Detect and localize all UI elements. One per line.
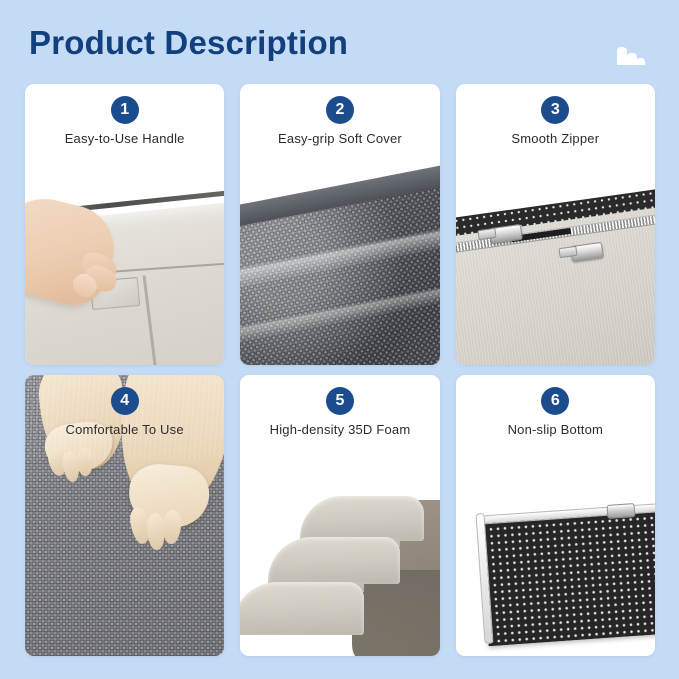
card-5-label: High-density 35D Foam <box>240 422 439 437</box>
card-1-head: 1 Easy-to-Use Handle <box>25 84 224 160</box>
card-2-badge: 2 <box>326 96 354 124</box>
card-6-label: Non-slip Bottom <box>456 422 655 437</box>
card-5-head: 5 High-density 35D Foam <box>240 375 439 451</box>
card-3-badge: 3 <box>541 96 569 124</box>
card-3-label: Smooth Zipper <box>456 131 655 146</box>
card-3-head: 3 Smooth Zipper <box>456 84 655 160</box>
card-2-photo <box>240 160 439 365</box>
card-1-photo <box>25 160 224 365</box>
card-4-photo <box>25 375 224 656</box>
card-2-head: 2 Easy-grip Soft Cover <box>240 84 439 160</box>
feature-card-5[interactable]: 5 High-density 35D Foam <box>240 375 439 656</box>
feature-card-6[interactable]: 6 Non-slip Bottom <box>456 375 655 656</box>
card-3-photo <box>456 160 655 365</box>
page-title: Product Description <box>29 24 348 62</box>
feature-card-4[interactable]: 4 Comfortable To Use <box>25 375 224 656</box>
card-5-badge: 5 <box>326 387 354 415</box>
header: Product Description <box>0 0 679 84</box>
card-6-head: 6 Non-slip Bottom <box>456 375 655 451</box>
stairs-icon <box>615 42 647 66</box>
card-1-badge: 1 <box>111 96 139 124</box>
card-6-photo <box>456 451 655 656</box>
feature-card-2[interactable]: 2 Easy-grip Soft Cover <box>240 84 439 365</box>
product-description-infographic: Product Description 1 Easy-to-Use H <box>0 0 679 679</box>
feature-card-1[interactable]: 1 Easy-to-Use Handle <box>25 84 224 365</box>
feature-card-3[interactable]: 3 Smooth Zipper <box>456 84 655 365</box>
card-5-photo <box>240 451 439 656</box>
feature-card-grid: 1 Easy-to-Use Handle 2 Easy-grip Soft Co… <box>25 84 655 656</box>
card-6-badge: 6 <box>541 387 569 415</box>
card-2-label: Easy-grip Soft Cover <box>240 131 439 146</box>
card-1-label: Easy-to-Use Handle <box>25 131 224 146</box>
